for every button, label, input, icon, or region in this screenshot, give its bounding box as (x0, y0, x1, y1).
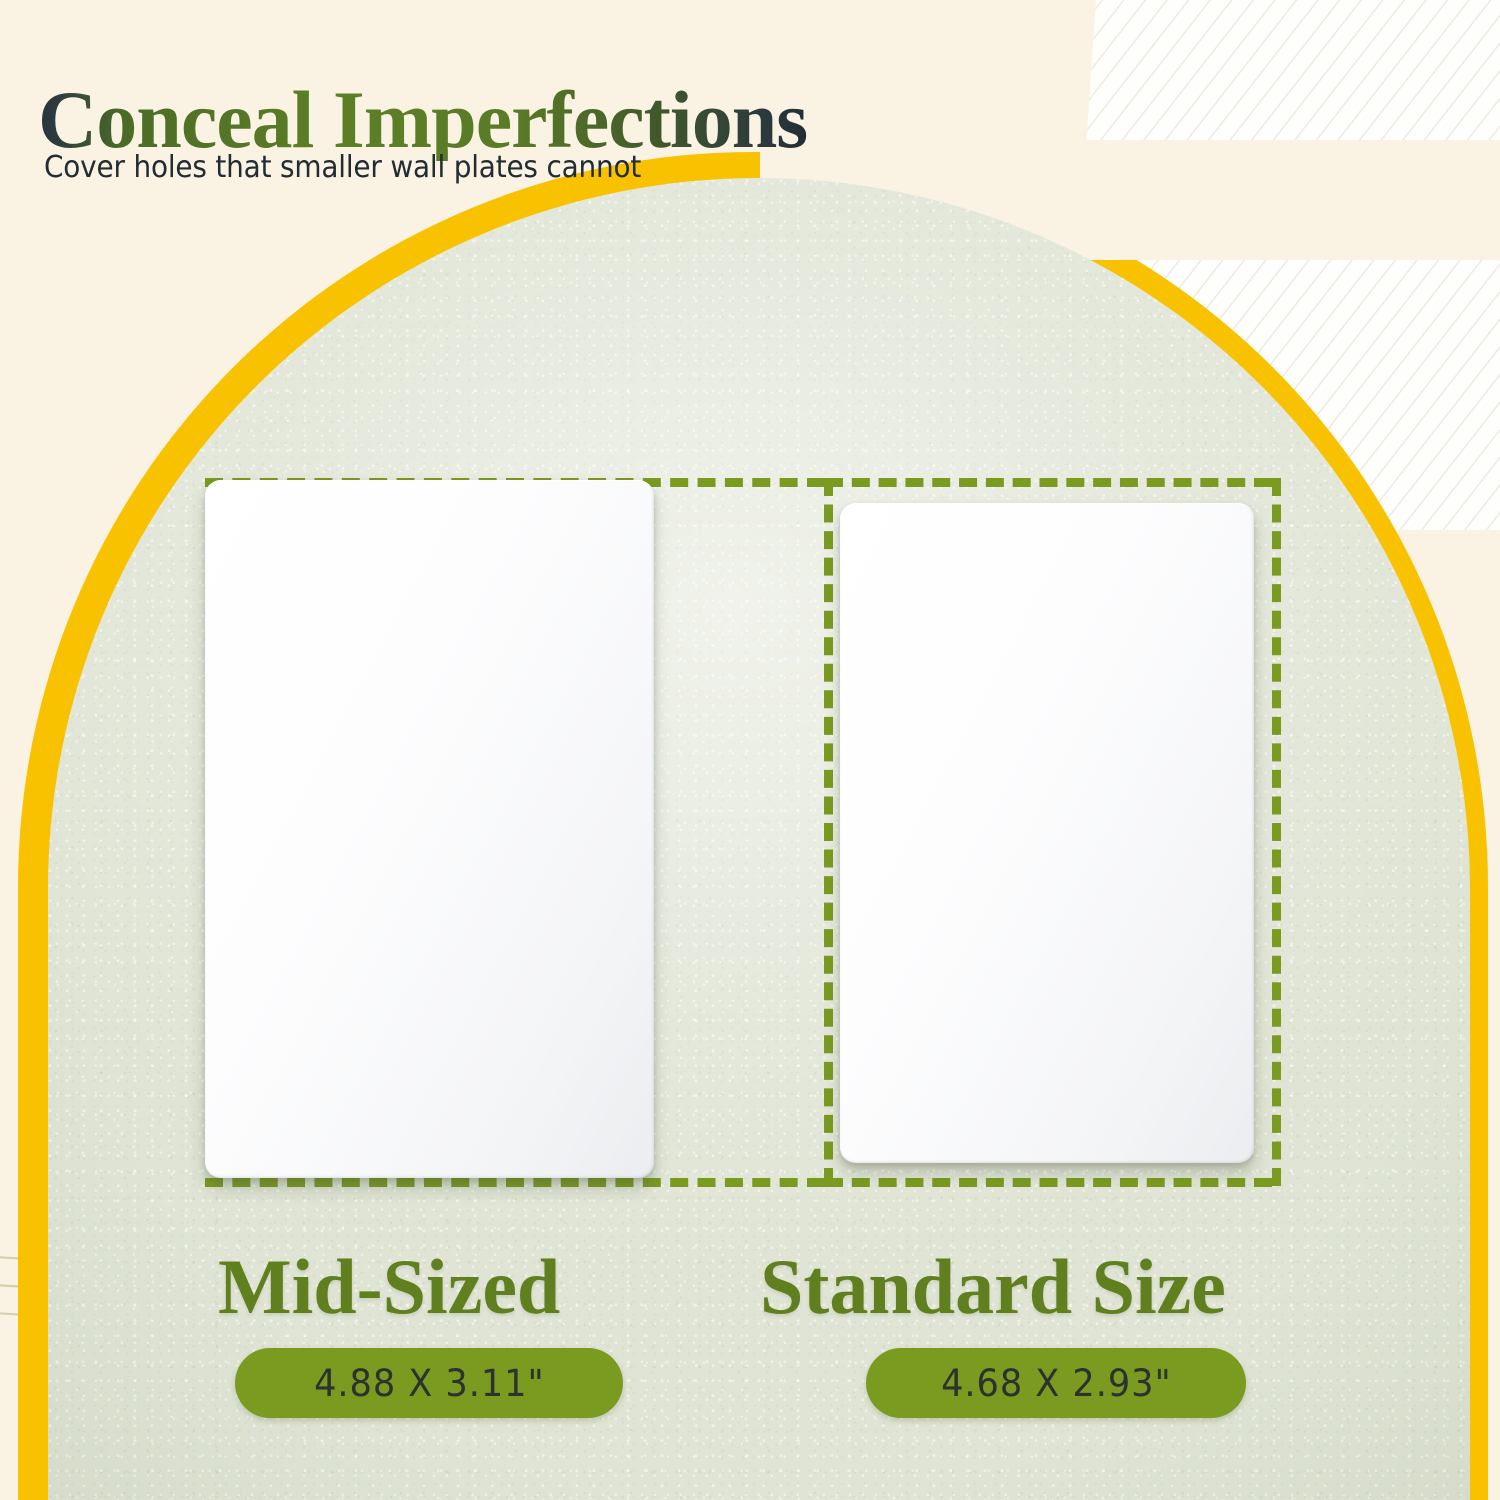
dashed-outline-top-right (825, 478, 1272, 487)
mid-sized-dimensions-badge: 4.88 X 3.11" (235, 1348, 623, 1418)
mid-sized-wall-plate (205, 480, 654, 1178)
standard-size-title: Standard Size (760, 1248, 1226, 1326)
page-subtitle: Cover holes that smaller wall plates can… (44, 150, 641, 185)
product-infographic: Conceal Imperfections Cover holes that s… (0, 0, 1500, 1500)
dashed-outline-divider (824, 478, 833, 1186)
standard-size-dimensions-badge: 4.68 X 2.93" (866, 1348, 1246, 1418)
standard-size-wall-plate (840, 503, 1254, 1163)
mid-sized-title: Mid-Sized (218, 1248, 560, 1326)
dashed-outline-right-edge (1272, 478, 1281, 1186)
dashed-outline-bottom-right (825, 1178, 1272, 1187)
dashed-outline-bottom-left (205, 1178, 825, 1187)
standard-size-dimensions-text: 4.68 X 2.93" (941, 1362, 1172, 1405)
page-title: Conceal Imperfections (38, 79, 807, 161)
mid-sized-dimensions-text: 4.88 X 3.11" (314, 1362, 545, 1405)
